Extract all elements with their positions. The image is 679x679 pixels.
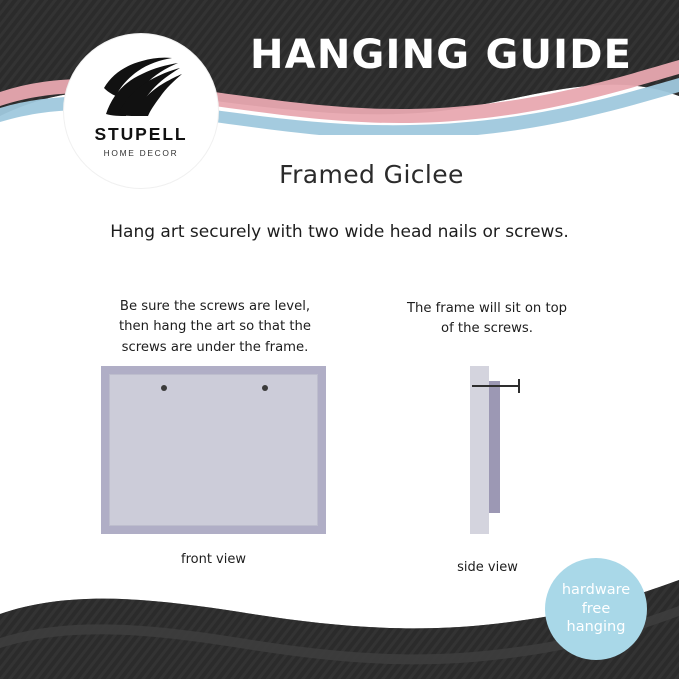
logo-brand-name: STUPELL [94,124,187,145]
front-view-mat [109,374,318,526]
badge-line-3: hanging [562,618,630,637]
front-view-frame-diagram [101,366,326,534]
side-view-caption-line-1: The frame will sit on top [382,299,592,319]
side-view-caption: The frame will sit on top of the screws. [382,299,592,340]
screw-left-icon [161,385,167,391]
page-title: HANGING GUIDE [250,32,632,78]
product-type-text: Framed Giclee [279,160,464,189]
screw-right-icon [262,385,268,391]
badge-line-2: free [562,600,630,619]
side-view-frame-profile [489,381,500,513]
hardware-free-badge: hardware free hanging [545,558,647,660]
logo-brand-tagline: HOME DECOR [104,148,179,158]
front-view-caption: Be sure the screws are level, then hang … [82,297,348,358]
front-view-caption-line-2: then hang the art so that the [82,317,348,337]
front-view-caption-line-3: screws are under the frame. [82,338,348,358]
front-view-caption-line-1: Be sure the screws are level, [82,297,348,317]
side-view-wall-diagram [470,366,489,534]
primary-instruction: Hang art securely with two wide head nai… [0,222,679,242]
side-view-caption-line-2: of the screws. [382,319,592,339]
brand-logo: STUPELL HOME DECOR [64,34,218,188]
stupell-swirl-logo-icon [98,56,184,118]
hanging-guide-page: STUPELL HOME DECOR HANGING GUIDE Framed … [0,0,679,679]
badge-line-1: hardware [562,581,630,600]
hardware-free-badge-text: hardware free hanging [562,581,630,637]
side-view-nail-icon [472,385,520,387]
side-view-nail-head-icon [518,379,520,393]
